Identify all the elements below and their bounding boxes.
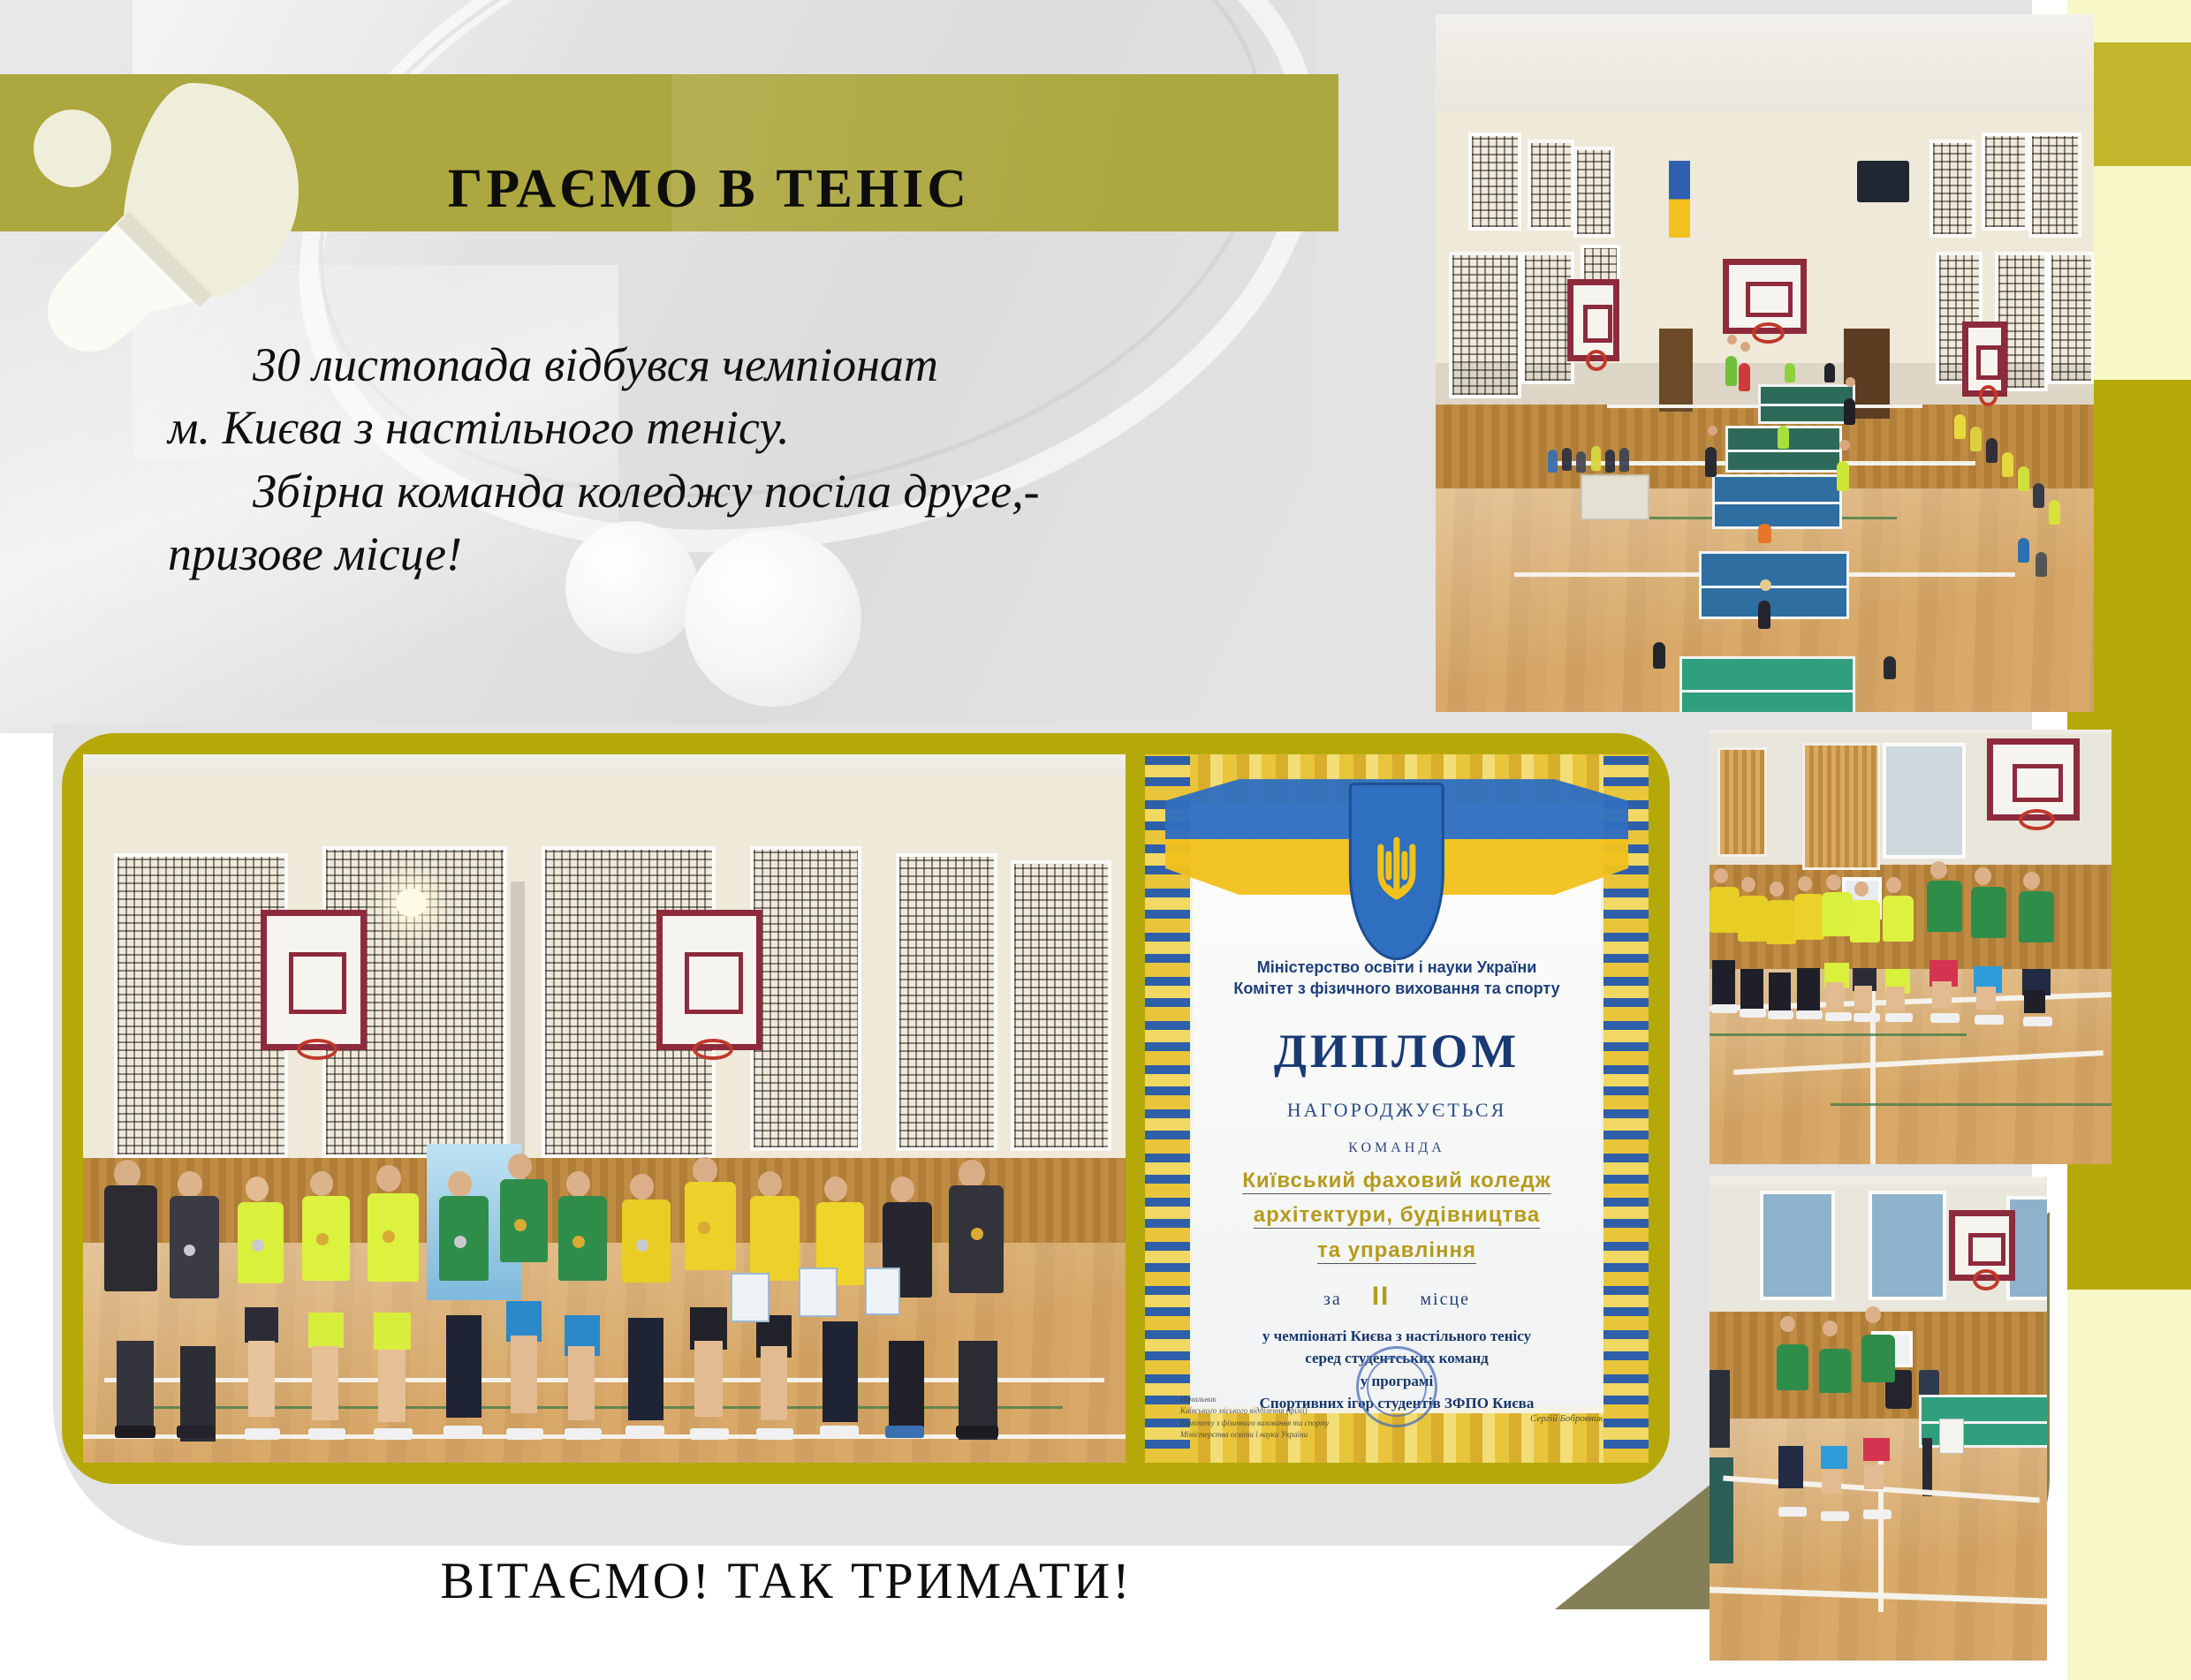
diploma-ministry-line-2: Комітет з фізичного виховання та спорту xyxy=(1201,978,1594,1000)
diploma-team-line-3: та управління xyxy=(1195,1238,1598,1263)
photo-three-players xyxy=(1710,1177,2047,1661)
photo-tournament-hall xyxy=(1436,14,2094,712)
intro-line-1: 30 листопада відбувся чемпіонат xyxy=(168,334,1210,397)
diploma-place-value: II xyxy=(1342,1282,1421,1311)
gold-photo-frame: Міністерство освіти і науки України Комі… xyxy=(62,733,1670,1484)
diploma-ministry-line-1: Міністерство освіти і науки України xyxy=(1201,957,1594,979)
diploma-footer-line-1: у чемпіонаті Києва з настільного тенісу xyxy=(1186,1325,1609,1348)
diploma-signature-line-4: Міністерства освіти і науки України xyxy=(1180,1429,1330,1442)
diploma-awarded-word: НАГОРОДЖУЄТЬСЯ xyxy=(1201,1099,1594,1122)
page-title: ГРАЄМО В ТЕНІС xyxy=(0,111,1338,269)
diploma-place-row: заIIмісце xyxy=(1216,1282,1578,1312)
photo-team-lineup xyxy=(1710,730,2111,1164)
diploma-place-suffix: місце xyxy=(1420,1290,1470,1309)
diploma-ministry: Міністерство освіти і науки України Комі… xyxy=(1201,957,1594,1001)
diploma-team-line-1: Київський фаховий коледж xyxy=(1195,1169,1598,1193)
intro-line-4: призове місце! xyxy=(168,523,1210,586)
diploma-signature-line-1: Начальник xyxy=(1180,1394,1330,1406)
intro-paragraph: 30 листопада відбувся чемпіонат м. Києва… xyxy=(168,334,1210,586)
diploma-signature-block: Начальник Київського міського відділення… xyxy=(1180,1394,1330,1442)
footer-caption: ВІТАЄМО! ТАК ТРИМАТИ! xyxy=(159,1551,1414,1610)
diploma-signatory-name: Сергій Бобровник xyxy=(1530,1413,1603,1424)
diploma-official-stamp xyxy=(1356,1346,1437,1427)
photo-diploma: Міністерство освіти і науки України Комі… xyxy=(1145,754,1649,1463)
intro-line-3: Збірна команда коледжу посіла друге,- xyxy=(168,460,1210,523)
intro-line-2: м. Києва з настільного тенісу. xyxy=(168,397,1210,459)
diploma-place-prefix: за xyxy=(1323,1290,1342,1309)
diploma-signature-line-3: Комітету з фізичного виховання та спорту xyxy=(1180,1418,1330,1430)
diploma-team-line-2: архітектури, будівництва xyxy=(1195,1203,1598,1228)
ukraine-trident-emblem-icon xyxy=(1349,783,1444,960)
diploma-recipient-word: КОМАНДА xyxy=(1201,1140,1594,1156)
diploma-signature-line-2: Київського міського відділення (філії) xyxy=(1180,1405,1330,1418)
photo-team-with-medals xyxy=(83,754,1126,1463)
diploma-heading: ДИПЛОМ xyxy=(1201,1024,1594,1078)
